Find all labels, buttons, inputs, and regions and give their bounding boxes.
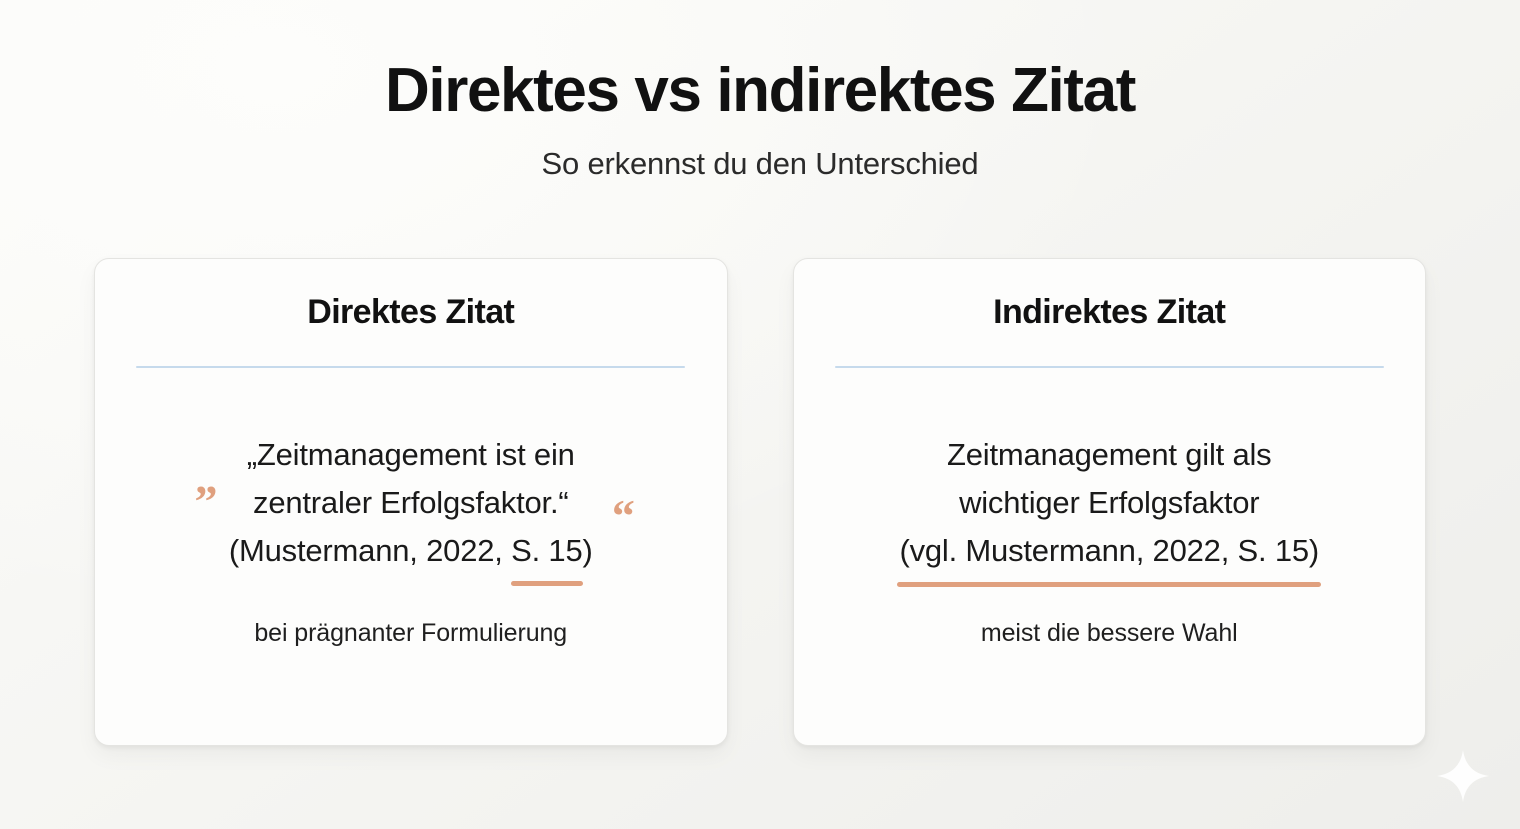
decorative-close-quote-icon: “ (612, 493, 635, 539)
card-direktes-zitat[interactable]: Direktes Zitat „ “ „Zeitmanagement ist e… (94, 258, 728, 746)
card-footnote: bei prägnanter Formulierung (254, 619, 567, 648)
citation-page-highlight: S. 15 (511, 527, 582, 575)
quote-line-2: zentraler Erfolgsfaktor.“ (229, 479, 593, 527)
slide-header: Direktes vs indirektes Zitat So erkennst… (0, 58, 1520, 182)
card-body: „ “ „Zeitmanagement ist ein zentraler Er… (125, 368, 697, 715)
quote-line-1: Zeitmanagement gilt als (899, 431, 1319, 479)
citation-suffix: ) (583, 533, 593, 568)
quote-block: Zeitmanagement gilt als wichtiger Erfolg… (899, 431, 1319, 575)
card-footnote: meist die bessere Wahl (981, 619, 1238, 648)
card-title: Direktes Zitat (307, 293, 514, 332)
comparison-cards: Direktes Zitat „ “ „Zeitmanagement ist e… (94, 258, 1426, 746)
citation-source-highlight: (vgl. Mustermann, 2022, S. 15) (899, 527, 1319, 575)
citation-line: (Mustermann, 2022, S. 15) (229, 527, 593, 575)
quote-line-2: wichtiger Erfolgsfaktor (899, 479, 1319, 527)
slide-canvas: Direktes vs indirektes Zitat So erkennst… (0, 0, 1520, 829)
quote-block: „ “ „Zeitmanagement ist ein zentraler Er… (229, 431, 593, 575)
page-subtitle: So erkennst du den Unterschied (0, 146, 1520, 182)
card-title: Indirektes Zitat (993, 293, 1225, 332)
page-title: Direktes vs indirektes Zitat (0, 58, 1520, 124)
citation-line: (vgl. Mustermann, 2022, S. 15) (899, 527, 1319, 575)
sparkle-icon (1436, 749, 1490, 803)
card-indirektes-zitat[interactable]: Indirektes Zitat Zeitmanagement gilt als… (793, 258, 1427, 746)
card-body: Zeitmanagement gilt als wichtiger Erfolg… (824, 368, 1396, 715)
quote-line-1: „Zeitmanagement ist ein (229, 431, 593, 479)
citation-prefix: (Mustermann, 2022, (229, 533, 511, 568)
decorative-open-quote-icon: „ (195, 455, 218, 501)
